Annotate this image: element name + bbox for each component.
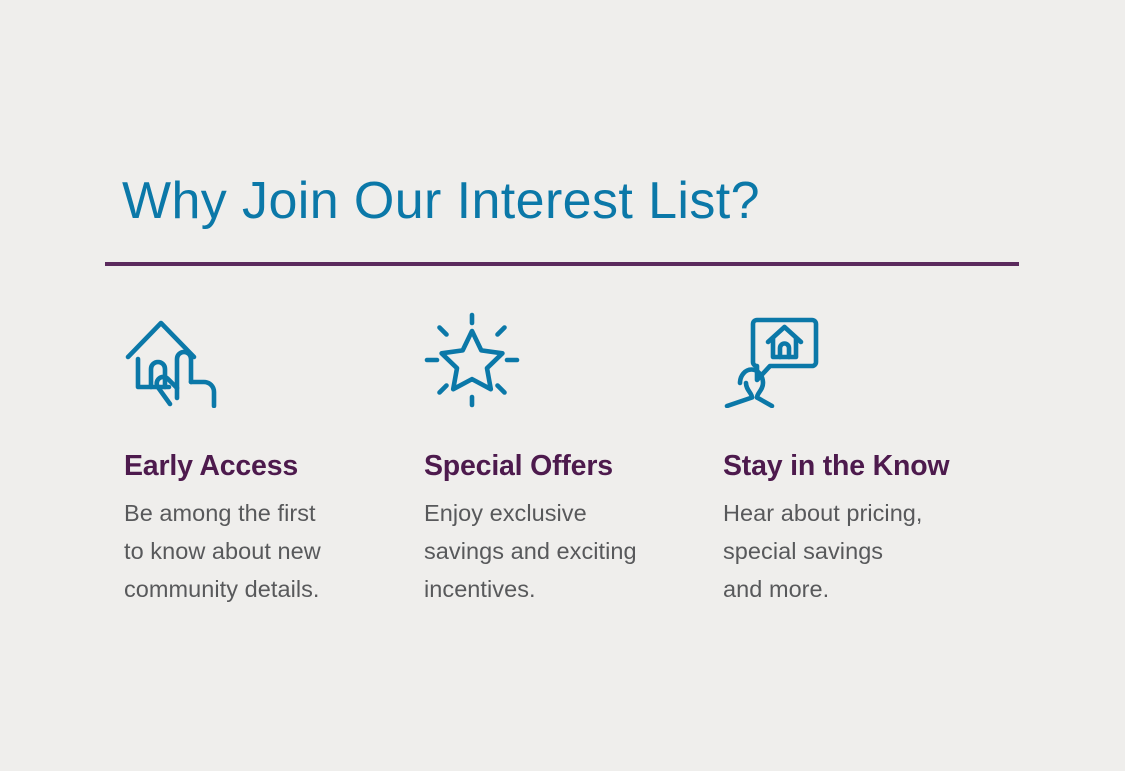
- page-root: Why Join Our Interest List?: [0, 0, 1125, 771]
- benefit-column-stay-in-the-know: Stay in the Know Hear about pricing, spe…: [723, 312, 1043, 609]
- benefit-title: Early Access: [124, 451, 414, 482]
- benefit-title: Special Offers: [424, 451, 714, 482]
- benefit-column-early-access: Early Access Be among the first to know …: [124, 312, 414, 609]
- person-speech-bubble-house-icon: [723, 312, 819, 408]
- shining-star-icon: [424, 312, 520, 408]
- page-title: Why Join Our Interest List?: [122, 172, 760, 232]
- benefit-column-special-offers: Special Offers Enjoy exclusive savings a…: [424, 312, 714, 609]
- benefits-columns: Early Access Be among the first to know …: [0, 312, 1125, 632]
- heading-divider: [105, 262, 1019, 266]
- benefit-description: Be among the first to know about new com…: [124, 495, 414, 608]
- benefit-title: Stay in the Know: [723, 451, 1043, 482]
- house-hand-pointing-icon: [124, 312, 220, 408]
- benefit-description: Enjoy exclusive savings and exciting inc…: [424, 495, 714, 608]
- benefit-description: Hear about pricing, special savings and …: [723, 495, 1043, 608]
